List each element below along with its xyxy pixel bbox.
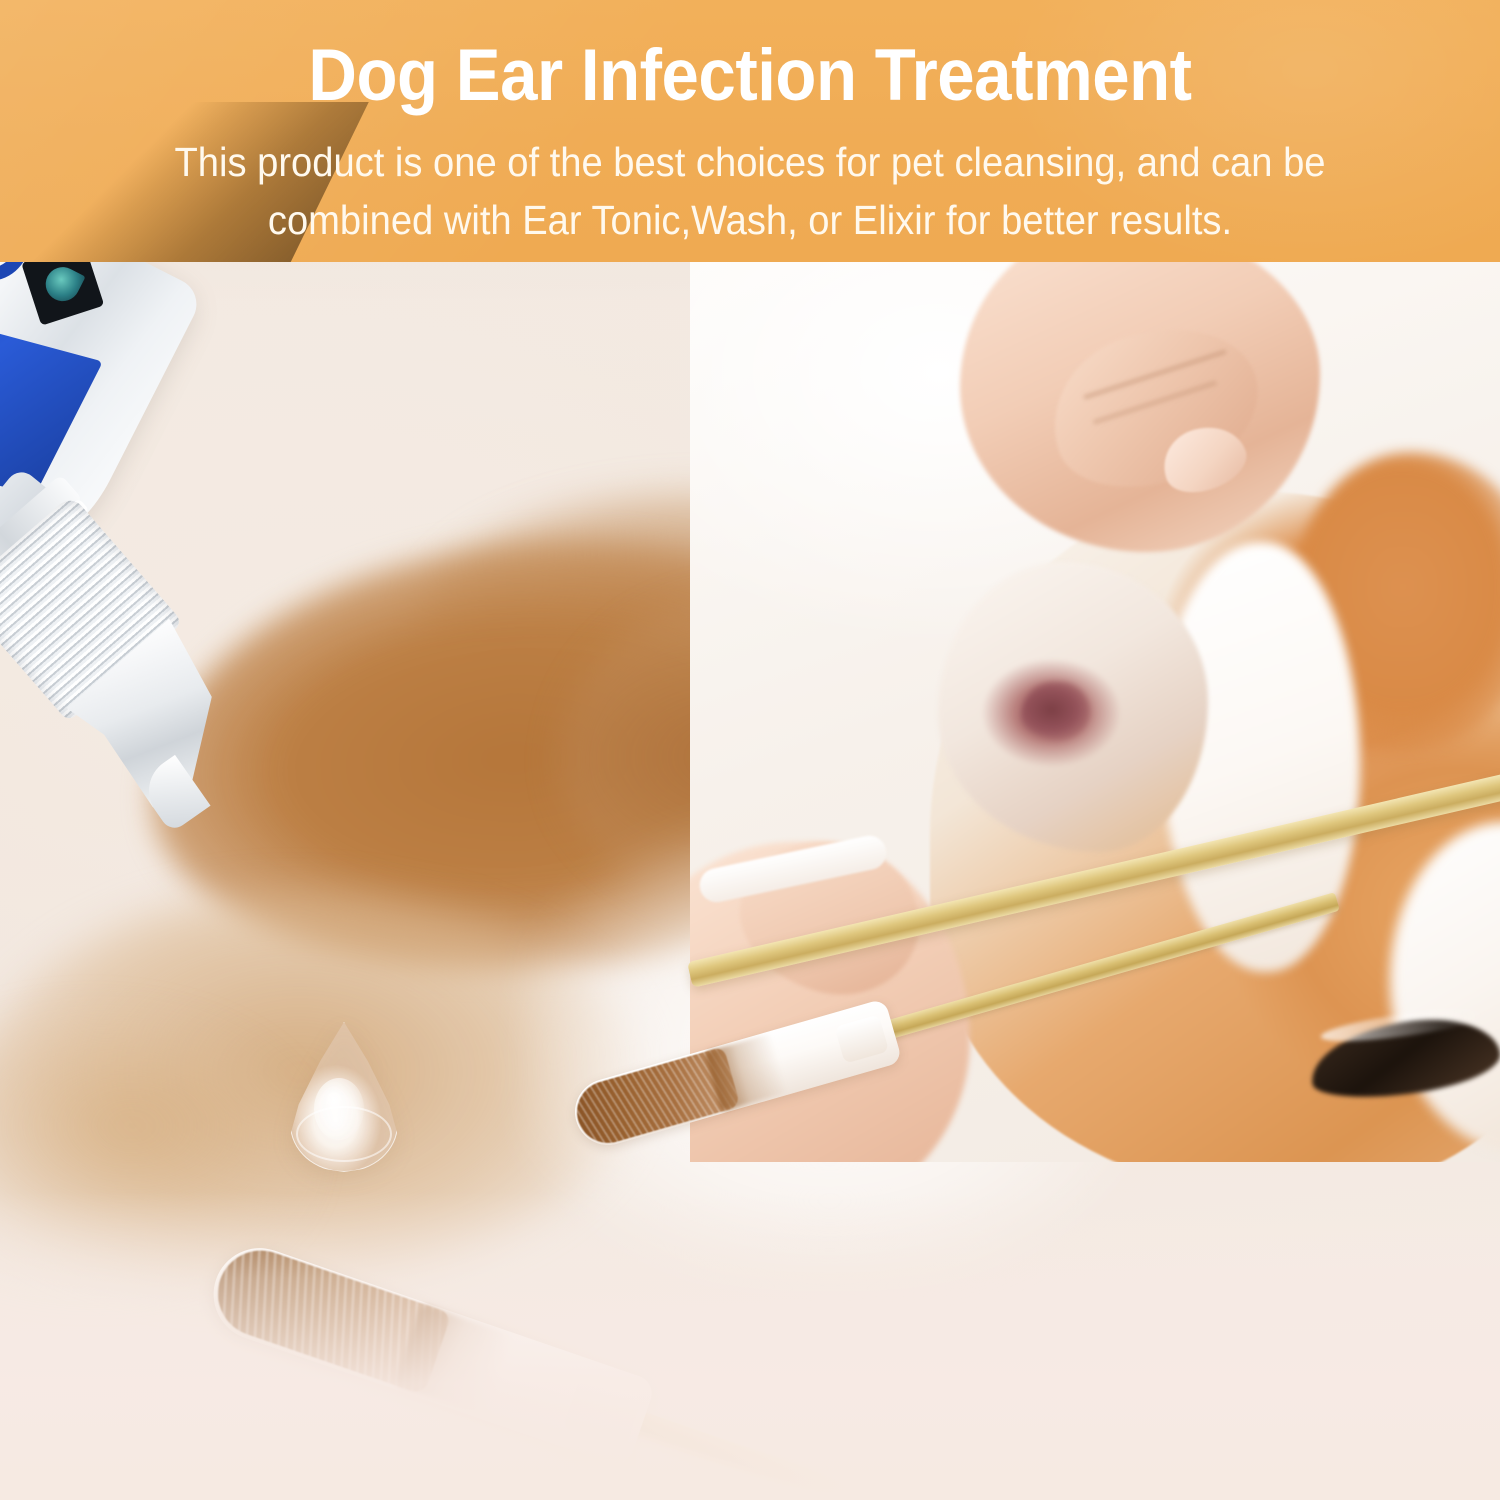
drop-highlight [314,1078,364,1140]
feature-list: Not easy to break High Water Absorption [0,1265,1500,1500]
recycle-icon [40,262,86,307]
bottle-cap [0,494,209,752]
liquid-drop [290,1022,398,1172]
human-hand-holding-ear [930,262,1350,662]
dog-ear-canal [1020,682,1090,740]
page-subtitle: This product is one of the best choices … [108,133,1391,249]
product-infographic: Dog Ear Infection Treatment This product… [0,0,1500,1500]
header-banner: Dog Ear Infection Treatment This product… [0,0,1500,262]
page-title: Dog Ear Infection Treatment [60,36,1440,116]
